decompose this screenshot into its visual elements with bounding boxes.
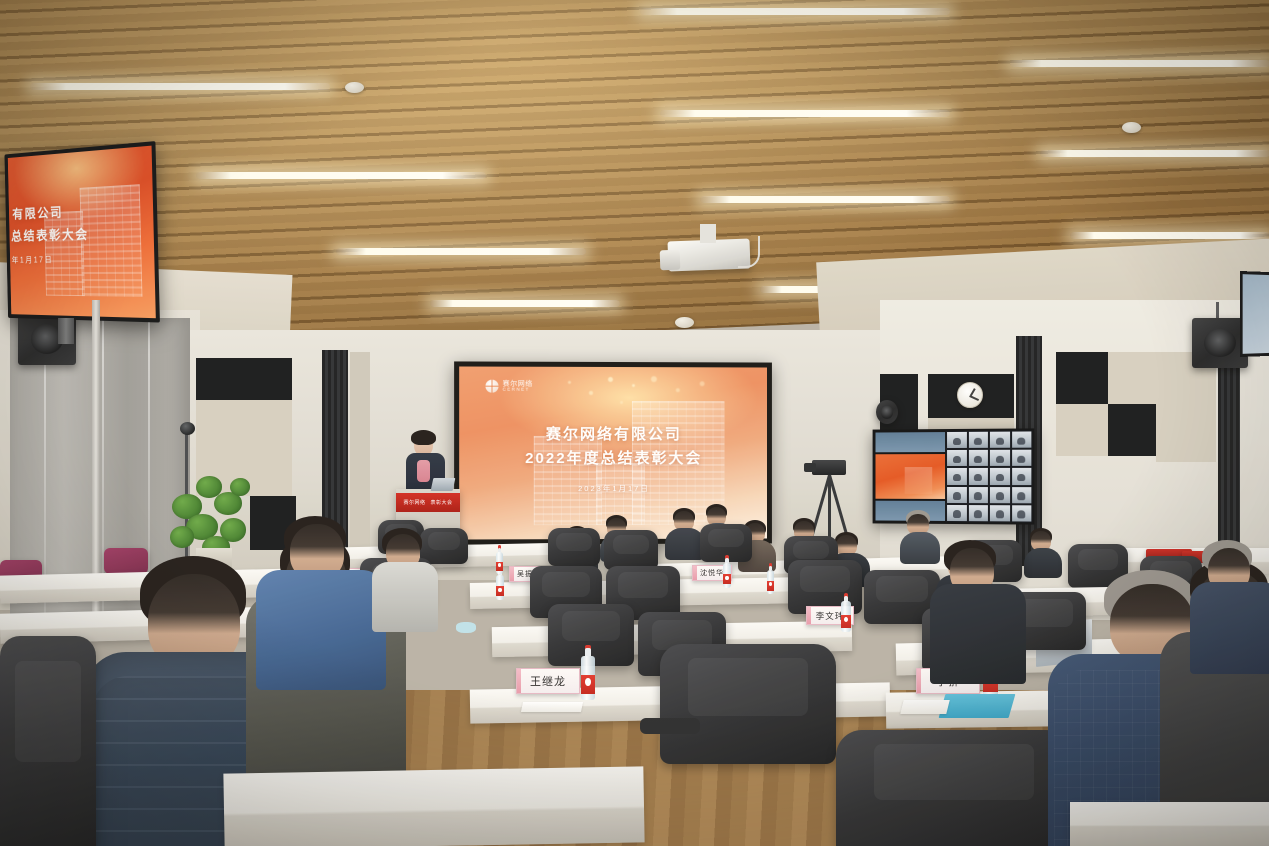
projector-lens-icon: [660, 250, 681, 271]
globe-icon: [485, 380, 498, 393]
name-placard: 王继龙: [516, 668, 580, 694]
hanging-speaker: [876, 400, 898, 424]
participant-tile: [946, 486, 967, 504]
left-wall-tv: 有限公司 总结表彰大会 年1月17日: [4, 141, 159, 322]
speaker-scarf: [417, 460, 430, 482]
projector-mount: [700, 224, 716, 243]
participant-tile: [989, 431, 1011, 449]
ceiling-light-strip: [1040, 150, 1269, 157]
corner-monitor: [1240, 271, 1269, 357]
acoustic-panel: [196, 358, 292, 400]
office-chair: [0, 636, 96, 846]
participant-tile: [1011, 430, 1033, 449]
video-camera: [812, 460, 846, 475]
acoustic-panel: [1108, 404, 1156, 456]
participant-tile: [1011, 504, 1033, 523]
ceiling-light-strip: [196, 172, 486, 179]
camera-lens-icon: [804, 463, 816, 472]
left-tv-screen-content: 有限公司 总结表彰大会 年1月17日: [8, 146, 156, 319]
video-wall-shared-panel: [875, 431, 947, 522]
office-chair: [548, 528, 600, 566]
visitor-chair: [104, 548, 148, 574]
acoustic-panel: [1156, 352, 1216, 462]
participant-tile: [989, 467, 1011, 485]
left-tv-date: 年1月17日: [10, 253, 154, 266]
slide-title-line2: 2022年度总结表彰大会: [459, 447, 767, 468]
blue-folder: [939, 694, 1016, 718]
participant-tile: [968, 449, 989, 467]
office-chair: [604, 530, 658, 570]
office-chair: [420, 528, 468, 564]
video-conference-wall: [873, 428, 1035, 524]
participant-tile: [1011, 486, 1033, 504]
acoustic-panel: [1056, 352, 1108, 404]
participant-tile: [946, 431, 967, 449]
face-mask: [456, 622, 476, 633]
ceiling-light-strip: [30, 83, 330, 90]
blue-sweater: [256, 570, 386, 690]
ceiling-light-strip: [430, 300, 620, 307]
office-chair: [836, 730, 1072, 846]
ceiling-light-strip: [660, 110, 950, 117]
participant-tile: [968, 486, 989, 504]
ceiling-speaker-icon: [1122, 122, 1141, 133]
logo-text-en: CERNET: [503, 387, 533, 392]
cernet-logo: 赛尔网络 CERNET: [485, 380, 532, 393]
water-bottle: [722, 558, 732, 588]
water-bottle: [580, 648, 596, 700]
participant-tile: [989, 486, 1011, 504]
participant-tile: [968, 467, 989, 485]
acoustic-panel: [1108, 352, 1156, 404]
document-sheet: [521, 702, 583, 712]
speaker-cone-icon: [1204, 329, 1235, 357]
wall-column: [350, 352, 370, 558]
participant-tile: [1011, 467, 1033, 485]
acoustic-panel: [1056, 404, 1108, 456]
chair-armrest: [640, 718, 700, 734]
wall-clock: [957, 382, 983, 408]
participant-tile-grid: [946, 430, 1032, 522]
video-wall-tile: [875, 431, 947, 453]
video-wall-shared-slide: [875, 453, 947, 499]
speaker-hair: [411, 430, 436, 445]
document-sheet: [900, 700, 949, 714]
ceiling-light-strip: [1010, 60, 1269, 67]
ceiling-light-strip: [640, 8, 950, 15]
ceiling-light-strip: [700, 196, 950, 203]
left-tv-title-line2: 总结表彰大会: [9, 221, 154, 244]
participant-tile: [968, 431, 989, 449]
office-chair: [660, 644, 836, 764]
participant-tile: [946, 467, 967, 485]
podium-banner-right-text: 表彰大会: [431, 499, 453, 506]
participant-tile: [1011, 449, 1033, 467]
water-bottle: [766, 566, 775, 594]
desk-row: [223, 766, 644, 846]
ceiling-light-strip: [336, 248, 586, 255]
water-bottle: [840, 596, 852, 632]
slide-date: 2023年1月17日: [459, 483, 767, 494]
speaker-cone-icon: [881, 405, 893, 418]
participant-tile: [946, 504, 967, 522]
water-bottle: [495, 570, 505, 600]
ceiling-speaker-icon: [675, 317, 694, 328]
desk-row: [1070, 802, 1269, 846]
ceiling-light-strip: [1070, 232, 1269, 239]
participant-tile: [989, 449, 1011, 467]
tv-stand: [58, 318, 74, 344]
microphone-icon: [180, 422, 195, 435]
ceiling-speaker-icon: [345, 82, 364, 93]
slide-title-line1: 赛尔网络有限公司: [459, 423, 767, 444]
podium-laptop: [431, 478, 456, 491]
conference-room-photo: 有限公司 总结表彰大会 年1月17日: [0, 0, 1269, 846]
podium-banner: 赛尔网络 表彰大会: [396, 493, 460, 512]
participant-tile: [946, 449, 967, 467]
water-bottle: [495, 548, 504, 574]
participant-tile: [968, 504, 989, 522]
participant-tile: [989, 504, 1011, 522]
podium-banner-left-text: 赛尔网络: [403, 499, 425, 506]
